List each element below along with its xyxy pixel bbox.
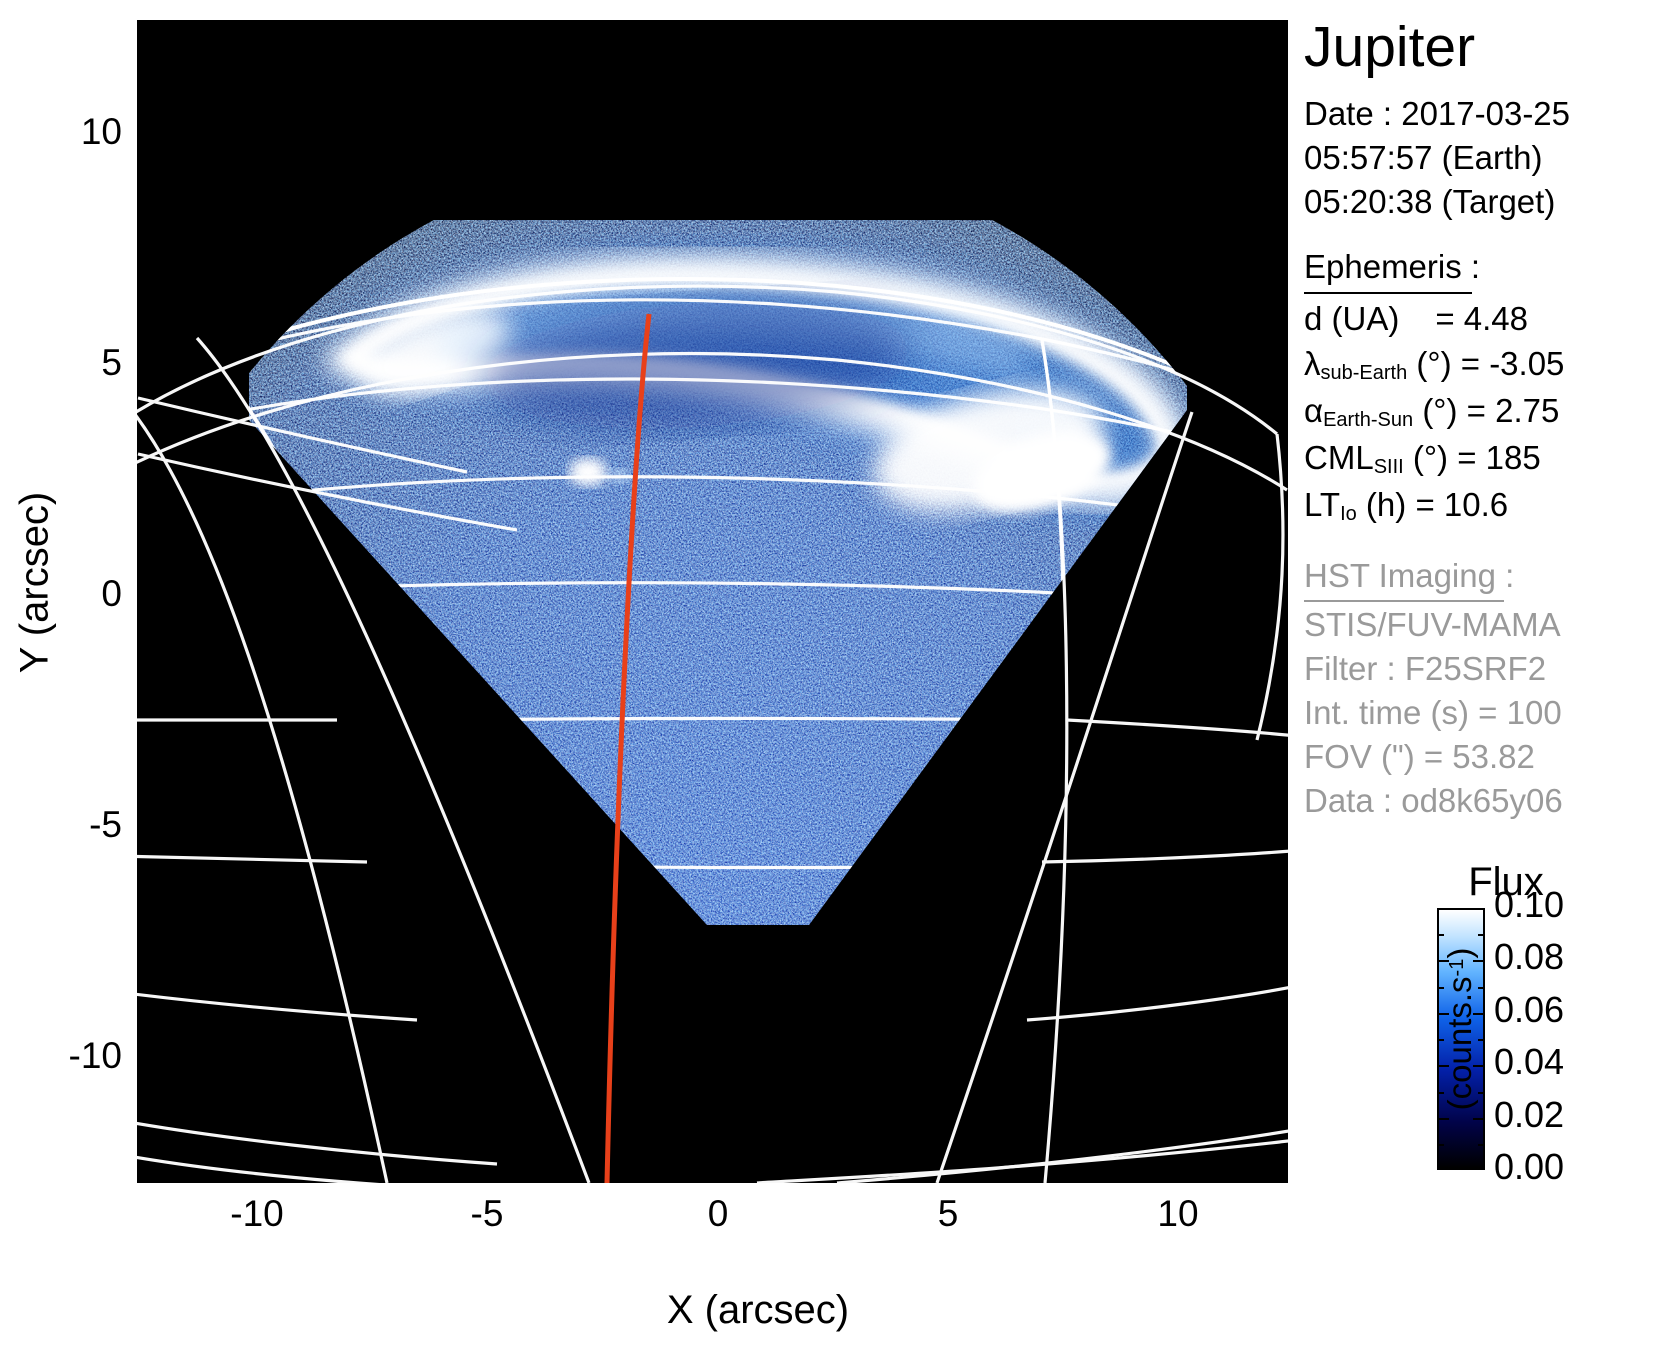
- observation-time-earth: 05:57:57 (Earth): [1304, 139, 1542, 177]
- ephemeris-unit-cml: (°): [1413, 439, 1448, 476]
- ephemeris-row-alpha: αEarth-Sun (°) = 2.75: [1304, 392, 1559, 432]
- ephemeris-value-alpha: = 2.75: [1467, 392, 1560, 429]
- y-tick-neg5: -5: [12, 806, 122, 843]
- colorbar-unit-exponent: -1: [1446, 959, 1468, 977]
- instrument-rule: [1304, 600, 1504, 602]
- ephemeris-unit-alpha: (°): [1422, 392, 1457, 429]
- colorbar-unit-text: (counts.s: [1441, 976, 1478, 1110]
- y-axis-title: Y (arcsec): [13, 453, 58, 713]
- y-tick-10: 10: [12, 113, 122, 150]
- ephemeris-unit-lt: (h): [1366, 486, 1406, 523]
- instrument-filter: Filter : F25SRF2: [1304, 650, 1546, 688]
- colorbar-tick-008: 0.08: [1494, 936, 1564, 978]
- colorbar-tick-006: 0.06: [1494, 989, 1564, 1031]
- info-panel: Jupiter Date : 2017-03-25 05:57:57 (Eart…: [1296, 0, 1676, 1367]
- colorbar-tick-004: 0.04: [1494, 1041, 1564, 1083]
- plot-canvas: [137, 20, 1288, 1183]
- instrument-heading: HST Imaging :: [1304, 557, 1514, 595]
- observation-date: Date : 2017-03-25: [1304, 95, 1570, 133]
- x-tick-neg5: -5: [427, 1195, 547, 1232]
- ephemeris-label-lambda: λ: [1304, 345, 1321, 382]
- ephemeris-value-cml: = 185: [1457, 439, 1541, 476]
- x-tick-5: 5: [888, 1195, 1008, 1232]
- colorbar-tick-010: 0.10: [1494, 884, 1564, 926]
- ephemeris-row-distance: d (UA)= 4.48: [1304, 300, 1528, 338]
- instrument-data-id: Data : od8k65y06: [1304, 782, 1563, 820]
- y-tick-neg10: -10: [12, 1037, 122, 1074]
- ephemeris-label-lt: LT: [1304, 486, 1340, 523]
- ephemeris-unit-lambda: (°): [1416, 345, 1451, 382]
- ephemeris-sub-lt: Io: [1340, 503, 1357, 525]
- x-tick-10: 10: [1118, 1195, 1238, 1232]
- ephemeris-sub-lambda: sub-Earth: [1321, 362, 1408, 384]
- ephemeris-row-lt: LTIo (h) = 10.6: [1304, 486, 1508, 526]
- colorbar-tick-002: 0.02: [1494, 1094, 1564, 1136]
- y-tick-5: 5: [12, 344, 122, 381]
- x-tick-neg10: -10: [197, 1195, 317, 1232]
- instrument-int-time: Int. time (s) = 100: [1304, 694, 1562, 732]
- ephemeris-rule: [1304, 292, 1472, 294]
- x-tick-0: 0: [658, 1195, 778, 1232]
- ephemeris-row-lambda: λsub-Earth (°) = -3.05: [1304, 345, 1564, 385]
- ephemeris-label-cml: CML: [1304, 439, 1374, 476]
- x-axis-title: X (arcsec): [648, 1288, 868, 1333]
- instrument-detector: STIS/FUV-MAMA: [1304, 606, 1561, 644]
- colorbar-unit-label: (counts.s-1): [1441, 909, 1479, 1149]
- ephemeris-value-distance: = 4.48: [1435, 300, 1528, 337]
- instrument-fov: FOV (") = 53.82: [1304, 738, 1535, 776]
- ephemeris-sub-cml: SIII: [1374, 456, 1404, 478]
- ephemeris-label-distance: d (UA): [1304, 300, 1399, 337]
- aurora-image-plot: [137, 20, 1288, 1183]
- ephemeris-row-cml: CMLSIII (°) = 185: [1304, 439, 1541, 479]
- ephemeris-label-alpha: α: [1304, 392, 1323, 429]
- colorbar-unit-close: ): [1441, 948, 1478, 959]
- ephemeris-heading: Ephemeris :: [1304, 248, 1480, 286]
- ephemeris-value-lambda: = -3.05: [1461, 345, 1565, 382]
- ephemeris-value-lt: = 10.6: [1415, 486, 1508, 523]
- ephemeris-sub-alpha: Earth-Sun: [1323, 409, 1413, 431]
- target-title: Jupiter: [1304, 14, 1475, 80]
- observation-time-target: 05:20:38 (Target): [1304, 183, 1555, 221]
- colorbar-tick-000: 0.00: [1494, 1146, 1564, 1188]
